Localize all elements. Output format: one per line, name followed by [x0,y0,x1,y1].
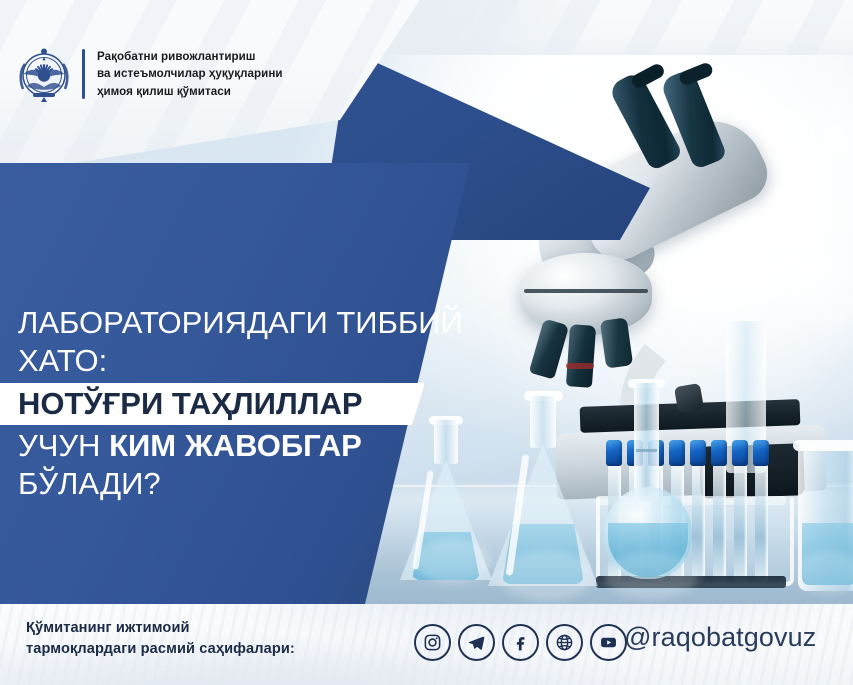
uzbekistan-state-emblem-icon [16,44,72,104]
beaker-lip [793,440,853,451]
bokeh-circle [812,107,853,165]
glass-reflection [796,551,853,593]
footer-caption: Қўмитанинг ижтимоий тармоқлардаги расмий… [26,618,295,659]
microscope-eyepiece-cap-left [630,62,667,90]
microscope-turret-band [524,289,648,293]
microscope-objective-lens [529,319,569,380]
bokeh-circle [790,249,853,327]
social-handle: @raqobatgovuz [624,622,816,653]
microscope-nosepiece-turret [520,253,652,335]
microscope-objective-ring [566,363,594,369]
headline-line-3-highlight: НОТЎҒРИ ТАҲЛИЛЛАР [18,389,363,419]
headline-line-4: УЧУН КИМ ЖАВОБГАР [18,428,362,464]
footer-caption-line-1: Қўмитанинг ижтимоий [26,618,295,639]
organization-name: Рақобатни ривожлантириш ва истеъмолчилар… [97,48,283,99]
logo-divider [82,49,85,99]
org-name-line-3: ҳимоя қилиш қўмитаси [97,83,283,100]
flask-neck [434,420,458,464]
test-tube-cap [732,440,748,466]
headline-line-4-bold: КИМ ЖАВОБГАР [109,428,362,463]
headline-line-2: ХАТО: [18,343,107,379]
test-tube [734,456,747,584]
test-tube [755,456,768,584]
flask-neck [634,383,659,501]
flask-neck [530,396,556,448]
glass-reflection [414,539,492,583]
website-globe-icon[interactable] [546,624,583,661]
org-name-line-1: Рақобатни ривожлантириш [97,48,283,65]
glass-reflection [500,551,594,601]
glass-reflection [604,553,698,599]
footer-caption-line-2: тармоқлардаги расмий саҳифалари: [26,639,295,660]
microscope-objective-lens [566,324,596,388]
headline-line-4-plain: УЧУН [18,428,109,463]
headline-line-1: ЛАБОРАТОРИЯДАГИ ТИББИЙ [18,305,463,341]
instagram-icon[interactable] [414,624,451,661]
test-tube [713,456,726,584]
org-name-line-2: ва истеъмолчилар ҳуқуқларини [97,65,283,82]
facebook-icon[interactable] [502,624,539,661]
organization-logo: Рақобатни ривожлантириш ва истеъмолчилар… [16,44,283,104]
youtube-icon[interactable] [590,624,627,661]
headline-line-5: БЎЛАДИ? [18,466,161,502]
flask-graduation-mark [636,449,657,452]
telegram-icon[interactable] [458,624,495,661]
test-tube-cap [711,440,727,466]
test-tube-cap [753,440,769,466]
poster-canvas: Рақобатни ривожлантириш ва истеъмолчилар… [0,0,853,685]
social-links [414,624,627,661]
